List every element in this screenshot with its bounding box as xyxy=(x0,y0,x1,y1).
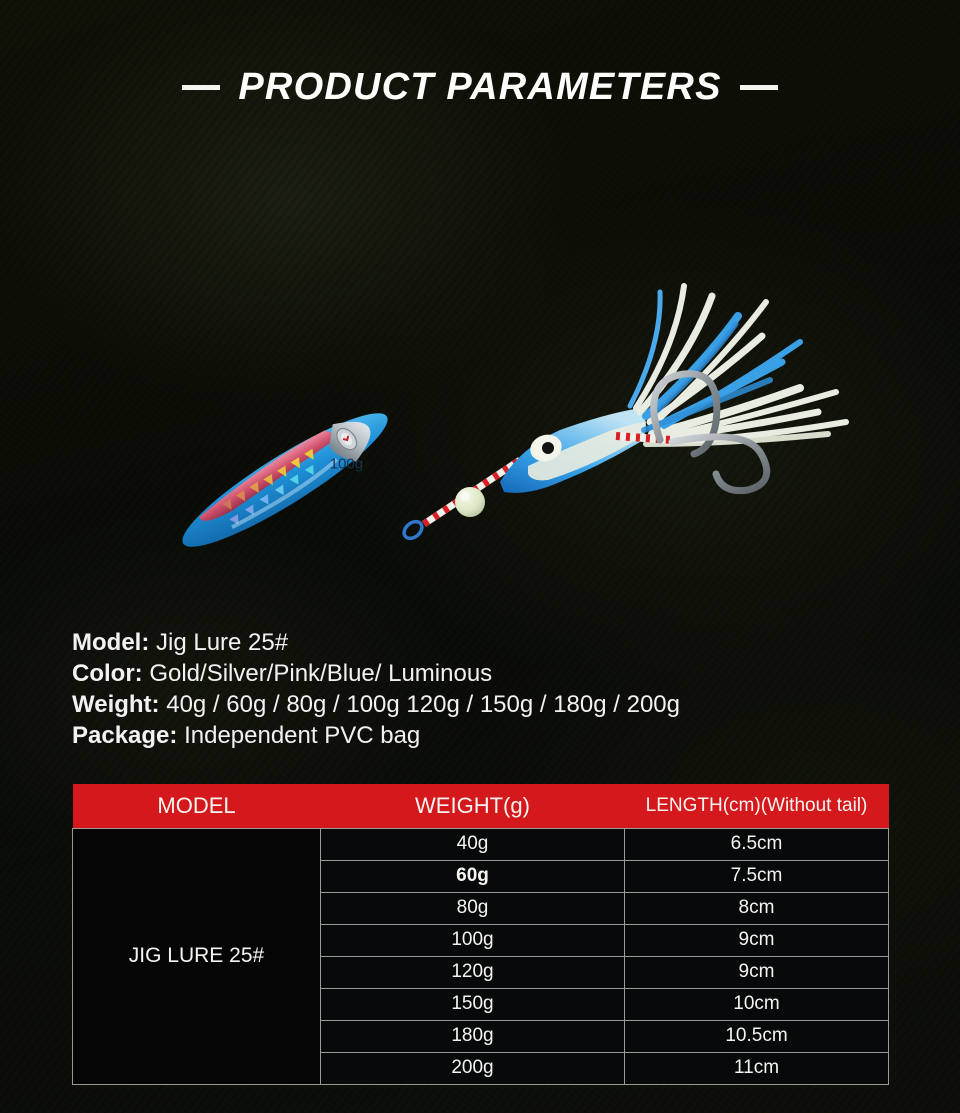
table-header-row: MODEL WEIGHT(g) LENGTH(cm)(Without tail) xyxy=(73,784,889,828)
title-right-dash-icon xyxy=(740,85,778,90)
cell-model-name: JIG LURE 25# xyxy=(73,828,321,1084)
title-left-dash-icon xyxy=(182,85,220,90)
spec-row-weight: Weight: 40g / 60g / 80g / 100g 120g / 15… xyxy=(72,689,892,720)
cell-length: 8cm xyxy=(625,892,889,924)
cell-length: 7.5cm xyxy=(625,860,889,892)
lure-illustration: 100g xyxy=(0,130,960,610)
cell-length: 9cm xyxy=(625,924,889,956)
skirt-cord-tie xyxy=(616,436,672,440)
column-header-model: MODEL xyxy=(73,784,321,828)
specification-list: Model: Jig Lure 25# Color: Gold/Silver/P… xyxy=(72,627,892,751)
column-header-weight: WEIGHT(g) xyxy=(321,784,625,828)
spec-row-color: Color: Gold/Silver/Pink/Blue/ Luminous xyxy=(72,658,892,689)
spec-row-package: Package: Independent PVC bag xyxy=(72,720,892,751)
product-photo: 100g xyxy=(0,130,960,610)
table-header: MODEL WEIGHT(g) LENGTH(cm)(Without tail) xyxy=(73,784,889,828)
spec-value-package: Independent PVC bag xyxy=(184,722,420,749)
spec-label-model: Model: xyxy=(72,629,149,656)
cell-weight: 60g xyxy=(321,860,625,892)
spec-label-package: Package: xyxy=(72,722,177,749)
cell-length: 6.5cm xyxy=(625,828,889,860)
page-title: PRODUCT PARAMETERS xyxy=(0,66,960,109)
spec-label-weight: Weight: xyxy=(72,691,160,718)
jig-weight-marking: 100g xyxy=(330,456,363,473)
cell-weight: 180g xyxy=(321,1020,625,1052)
parameters-table: MODEL WEIGHT(g) LENGTH(cm)(Without tail)… xyxy=(72,784,889,1085)
cell-length: 10cm xyxy=(625,988,889,1020)
table-row: JIG LURE 25# 40g 6.5cm xyxy=(73,828,889,860)
cell-length: 10.5cm xyxy=(625,1020,889,1052)
split-ring-upper xyxy=(401,518,425,542)
glow-bead xyxy=(455,487,485,517)
cell-length: 9cm xyxy=(625,956,889,988)
cell-weight: 80g xyxy=(321,892,625,924)
cell-weight: 150g xyxy=(321,988,625,1020)
page-title-text: PRODUCT PARAMETERS xyxy=(238,66,721,109)
cell-weight: 100g xyxy=(321,924,625,956)
cell-weight: 40g xyxy=(321,828,625,860)
cell-weight: 200g xyxy=(321,1052,625,1084)
spec-value-weight: 40g / 60g / 80g / 100g 120g / 150g / 180… xyxy=(166,691,680,718)
squid-skirt xyxy=(500,286,846,493)
spec-value-color: Gold/Silver/Pink/Blue/ Luminous xyxy=(149,660,492,687)
column-header-length: LENGTH(cm)(Without tail) xyxy=(625,784,889,828)
spec-label-color: Color: xyxy=(72,660,143,687)
cell-weight: 120g xyxy=(321,956,625,988)
table-body: JIG LURE 25# 40g 6.5cm 60g 7.5cm 80g 8cm… xyxy=(73,828,889,1084)
product-parameters-page: PRODUCT PARAMETERS xyxy=(0,0,960,1113)
spec-value-model: Jig Lure 25# xyxy=(156,629,288,656)
cell-length: 11cm xyxy=(625,1052,889,1084)
spec-row-model: Model: Jig Lure 25# xyxy=(72,627,892,658)
